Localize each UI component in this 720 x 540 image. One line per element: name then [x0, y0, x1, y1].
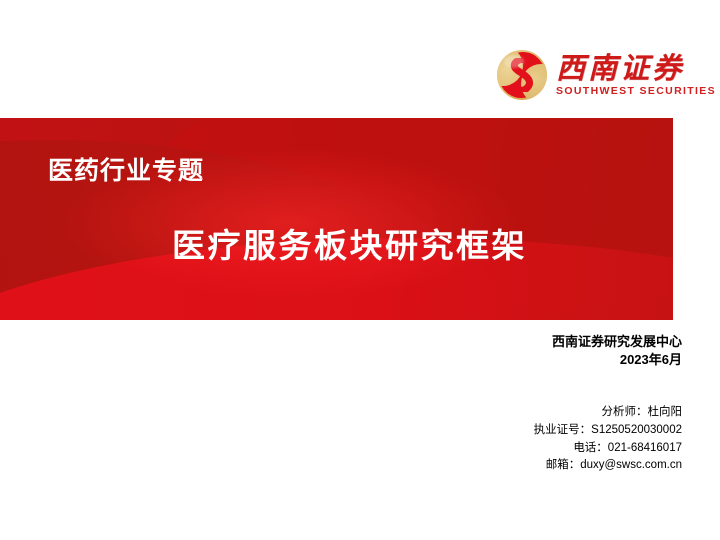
- logo-wordmark: 西南证券 SOUTHWEST SECURITIES: [556, 53, 716, 96]
- analyst-license-number: 执业证号：S1250520030002: [534, 422, 682, 440]
- title-slide: 西南证券 SOUTHWEST SECURITIES 医药行业专题 医疗服务板块研…: [0, 0, 720, 540]
- series-label: 医药行业专题: [48, 151, 204, 187]
- institution-name: 西南证券研究发展中心: [552, 333, 682, 351]
- logo-gloss: [504, 55, 524, 68]
- logo-english-name: SOUTHWEST SECURITIES: [556, 85, 716, 97]
- analyst-name: 分析师：杜向阳: [534, 404, 682, 422]
- logo-chinese-name: 西南证券: [556, 53, 716, 83]
- institution-block: 西南证券研究发展中心 2023年6月: [552, 333, 682, 368]
- title-banner: 医药行业专题 医疗服务板块研究框架: [0, 118, 673, 320]
- publication-date: 2023年6月: [552, 351, 682, 369]
- analyst-email: 邮箱：duxy@swsc.com.cn: [534, 457, 682, 475]
- globe-swirl-icon: [497, 50, 547, 100]
- company-logo: 西南证券 SOUTHWEST SECURITIES: [497, 44, 692, 106]
- banner-text-group: 医药行业专题 医疗服务板块研究框架: [0, 118, 673, 320]
- analyst-info-block: 分析师：杜向阳 执业证号：S1250520030002 电话：021-68416…: [534, 404, 682, 475]
- analyst-phone: 电话：021-68416017: [534, 440, 682, 458]
- page-title: 医疗服务板块研究框架: [172, 219, 527, 267]
